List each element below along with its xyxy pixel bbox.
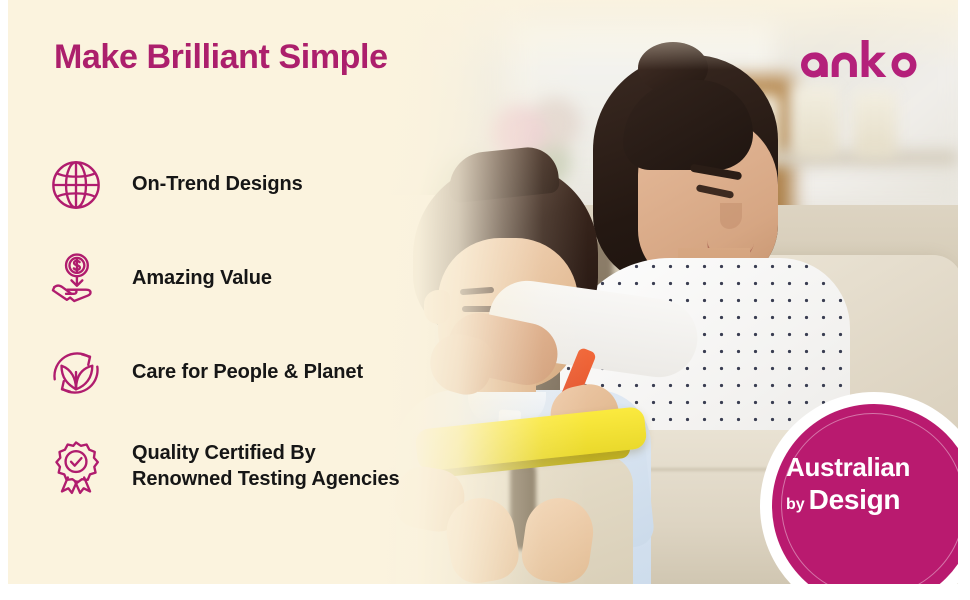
feature-label: On-Trend Designs (112, 172, 303, 198)
badge-word-design: Design (809, 484, 901, 515)
badge-line-by-design: byDesign (786, 485, 958, 514)
feature-quality-certified: Quality Certified By Renowned Testing Ag… (40, 420, 460, 514)
australian-by-design-badge: Australian byDesign (760, 392, 958, 584)
anko-brand-banner: Make Brilliant Simple (0, 0, 970, 600)
badge-text: Australian byDesign (786, 454, 958, 515)
quality-badge-icon (40, 438, 112, 496)
badge-line-australian: Australian (786, 454, 958, 481)
feature-care-for-people-planet: Care for People & Planet (40, 326, 460, 420)
anko-logo (796, 40, 922, 86)
feature-label: Care for People & Planet (112, 360, 363, 386)
page-title: Make Brilliant Simple (54, 38, 388, 77)
feature-label-line1: Quality Certified By (132, 442, 316, 464)
feature-amazing-value: Amazing Value (40, 232, 460, 326)
recycle-leaf-icon (40, 344, 112, 402)
photo-background-jar (853, 90, 897, 158)
feature-list: On-Trend Designs (40, 138, 460, 514)
globe-icon (40, 156, 112, 214)
photo-background-jar (793, 85, 839, 157)
feature-label-line2: Renowned Testing Agencies (132, 468, 400, 490)
feature-label: Amazing Value (112, 266, 272, 292)
cream-panel: Make Brilliant Simple (8, 0, 958, 584)
feature-label: Quality Certified By Renowned Testing Ag… (112, 441, 400, 492)
hand-coin-icon (40, 250, 112, 308)
feature-on-trend-designs: On-Trend Designs (40, 138, 460, 232)
badge-word-by: by (786, 496, 805, 513)
